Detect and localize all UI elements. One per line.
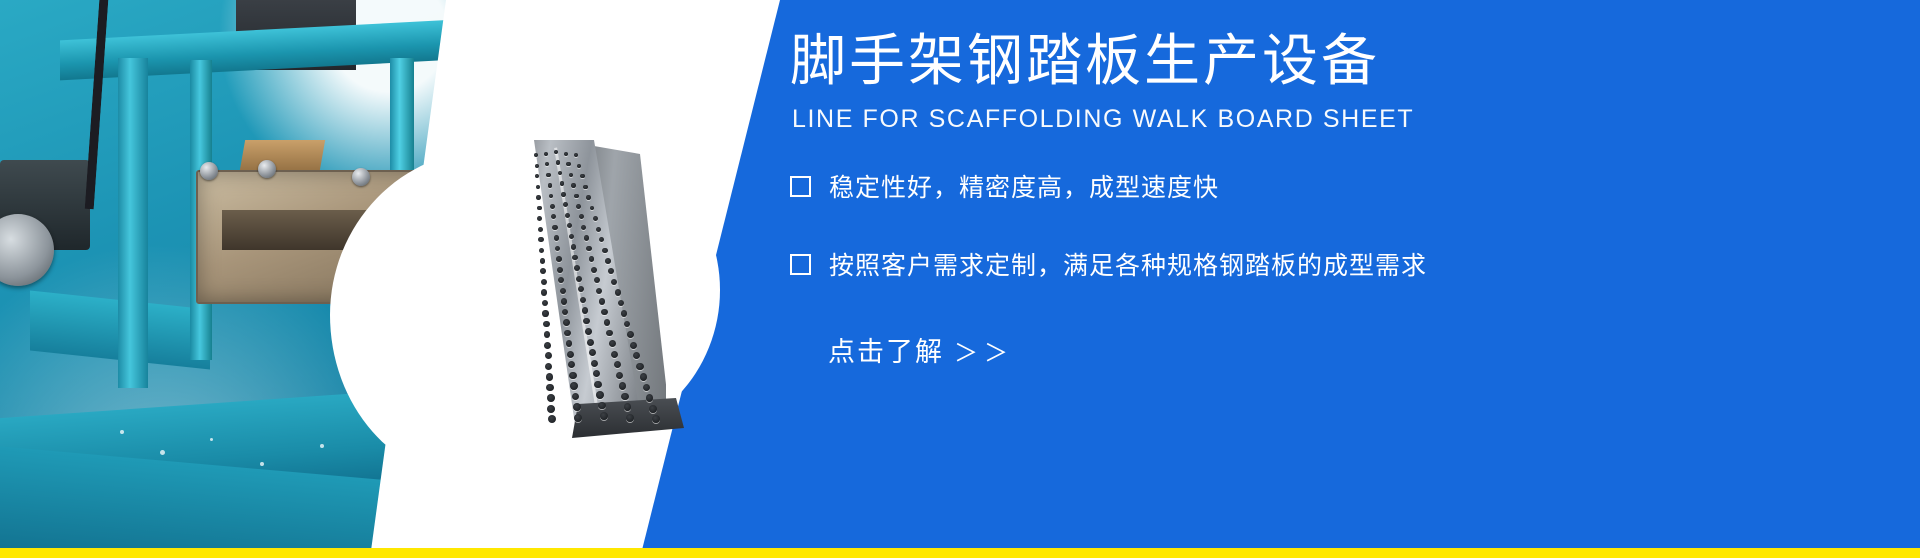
product-hole xyxy=(541,279,547,285)
machine-bolt xyxy=(352,168,370,186)
product-hole xyxy=(609,340,616,347)
product-hole xyxy=(652,415,660,423)
product-hole xyxy=(581,225,586,230)
product-hole xyxy=(550,204,555,209)
product-hole xyxy=(567,223,572,228)
product-hole xyxy=(579,214,584,219)
bottom-accent-bar xyxy=(0,548,1920,558)
product-hole xyxy=(544,342,551,349)
product-hole xyxy=(636,363,643,370)
product-hole xyxy=(569,372,576,379)
product-hole xyxy=(582,307,588,313)
product-hole xyxy=(556,160,560,164)
chevron-right-icon: ＞＞ xyxy=(954,340,1014,367)
product-hole xyxy=(591,360,598,367)
cta-label: 点击了解 xyxy=(828,337,944,367)
product-hole xyxy=(542,300,548,306)
product-hole xyxy=(561,192,566,197)
product-hole xyxy=(589,349,596,356)
product-hole xyxy=(576,276,582,282)
product-hole xyxy=(600,412,608,420)
feature-item-1: 稳定性好，精密度高，成型速度快 xyxy=(790,168,1790,204)
product-hole xyxy=(562,309,568,315)
product-perforations xyxy=(520,140,685,432)
product-hole xyxy=(626,414,634,422)
product-hole xyxy=(549,194,554,199)
photo-speck xyxy=(260,462,264,466)
product-hole xyxy=(573,403,581,411)
product-hole xyxy=(569,173,573,177)
product-hole xyxy=(646,394,654,402)
product-hole xyxy=(593,370,600,377)
product-hole xyxy=(587,339,594,346)
product-hole xyxy=(624,321,631,328)
product-hole xyxy=(551,214,556,219)
product-hole xyxy=(566,340,573,347)
product-hole xyxy=(649,405,657,413)
machine-bolt xyxy=(258,160,276,178)
product-hole xyxy=(599,298,605,304)
product-hole xyxy=(572,255,578,261)
product-hole xyxy=(545,363,552,370)
product-hole xyxy=(546,373,553,380)
product-hole xyxy=(554,150,558,154)
product-hole xyxy=(586,195,591,200)
square-bullet-icon xyxy=(790,176,811,197)
photo-speck xyxy=(210,438,213,441)
product-hole xyxy=(568,361,575,368)
product-hole xyxy=(539,248,544,253)
product-image xyxy=(520,140,685,432)
product-hole xyxy=(593,216,598,221)
product-hole xyxy=(537,206,542,211)
product-hole xyxy=(630,342,637,349)
product-hole xyxy=(640,373,647,380)
product-hole xyxy=(621,310,627,316)
product-hole xyxy=(614,361,621,368)
machine-column-left xyxy=(118,58,148,388)
product-hole xyxy=(594,381,602,389)
feature-list: 稳定性好，精密度高，成型速度快 按照客户需求定制，满足各种规格钢踏板的成型需求 xyxy=(790,168,1790,324)
product-hole xyxy=(586,246,591,251)
feature-item-2: 按照客户需求定制，满足各种规格钢踏板的成型需求 xyxy=(790,246,1790,282)
product-hole xyxy=(596,391,604,399)
product-hole xyxy=(572,393,580,401)
product-hole xyxy=(535,174,539,178)
product-hole xyxy=(590,206,595,211)
product-hole xyxy=(618,300,624,306)
product-hole xyxy=(536,185,540,189)
product-hole xyxy=(565,213,570,218)
photo-speck xyxy=(120,430,124,434)
product-hole xyxy=(558,171,562,175)
product-hole xyxy=(583,185,587,189)
feature-text: 按照客户需求定制，满足各种规格钢踏板的成型需求 xyxy=(829,246,1427,282)
product-hole xyxy=(599,237,604,242)
product-hole xyxy=(541,289,547,295)
product-hole xyxy=(540,258,546,264)
product-hole xyxy=(627,331,634,338)
product-hole xyxy=(536,195,541,200)
product-hole xyxy=(594,277,600,283)
product-hole xyxy=(546,173,550,177)
product-hole xyxy=(543,321,550,328)
product-hole xyxy=(571,244,576,249)
banner-title: 脚手架钢踏板生产设备 xyxy=(790,30,1380,92)
product-hole xyxy=(561,298,567,304)
product-hole xyxy=(544,152,548,156)
product-hole xyxy=(563,202,568,207)
product-hole xyxy=(624,403,632,411)
product-hole xyxy=(578,286,584,292)
learn-more-link[interactable]: 点击了解＞＞ xyxy=(828,330,1014,369)
product-hole xyxy=(548,415,556,423)
product-hole xyxy=(602,248,607,253)
product-hole xyxy=(619,382,627,390)
product-hole xyxy=(604,319,611,326)
product-hole xyxy=(555,246,560,251)
product-hole xyxy=(605,258,611,264)
product-hole xyxy=(545,352,552,359)
product-hole xyxy=(621,393,629,401)
product-hole xyxy=(554,235,559,240)
product-hole xyxy=(577,164,581,168)
product-hole xyxy=(580,174,584,178)
product-hole xyxy=(633,352,640,359)
product-hole xyxy=(608,268,614,274)
product-hole xyxy=(564,330,571,337)
product-hole xyxy=(596,288,602,294)
product-hole xyxy=(548,183,552,187)
product-hole xyxy=(560,288,566,294)
product-hole xyxy=(542,310,548,316)
product-hole xyxy=(540,268,546,274)
product-hole xyxy=(547,405,555,413)
product-hole xyxy=(611,279,617,285)
product-hole xyxy=(570,382,578,390)
product-hole xyxy=(560,181,564,185)
product-hole xyxy=(537,216,542,221)
banner-subtitle: LINE FOR SCAFFOLDING WALK BOARD SHEET xyxy=(792,105,1414,134)
product-hole xyxy=(538,227,543,232)
machine-bolt xyxy=(200,162,218,180)
product-hole xyxy=(552,225,557,230)
product-hole xyxy=(574,265,580,271)
product-hole xyxy=(580,297,586,303)
product-hole xyxy=(535,164,539,168)
product-hole xyxy=(538,237,543,242)
product-hole xyxy=(576,204,581,209)
product-hole xyxy=(584,235,589,240)
product-hole xyxy=(574,153,578,157)
product-hole xyxy=(547,394,555,402)
promo-banner: 脚手架钢踏板生产设备 LINE FOR SCAFFOLDING WALK BOA… xyxy=(0,0,1920,558)
product-hole xyxy=(598,402,606,410)
product-hole xyxy=(574,414,582,422)
product-hole xyxy=(563,319,570,326)
product-hole xyxy=(556,256,562,262)
product-hole xyxy=(615,289,621,295)
product-hole xyxy=(557,267,563,273)
product-hole xyxy=(596,227,601,232)
product-hole xyxy=(606,330,613,337)
photo-speck xyxy=(160,450,165,455)
product-hole xyxy=(566,162,570,166)
product-hole xyxy=(546,384,554,392)
product-hole xyxy=(567,351,574,358)
product-hole xyxy=(571,183,575,187)
product-hole xyxy=(583,318,590,325)
product-hole xyxy=(534,153,538,157)
photo-speck xyxy=(320,444,324,448)
product-hole xyxy=(585,328,592,335)
product-hole xyxy=(569,234,574,239)
product-hole xyxy=(616,372,623,379)
product-hole xyxy=(611,351,618,358)
product-hole xyxy=(558,277,564,283)
product-hole xyxy=(564,152,568,156)
product-hole xyxy=(545,162,549,166)
feature-text: 稳定性好，精密度高，成型速度快 xyxy=(829,168,1219,204)
product-hole xyxy=(601,309,607,315)
square-bullet-icon xyxy=(790,254,811,275)
banner-content: 脚手架钢踏板生产设备 LINE FOR SCAFFOLDING WALK BOA… xyxy=(790,0,1890,558)
product-hole xyxy=(591,267,597,273)
product-hole xyxy=(574,194,579,199)
product-hole xyxy=(544,331,551,338)
product-hole xyxy=(589,256,595,262)
product-hole xyxy=(643,384,651,392)
